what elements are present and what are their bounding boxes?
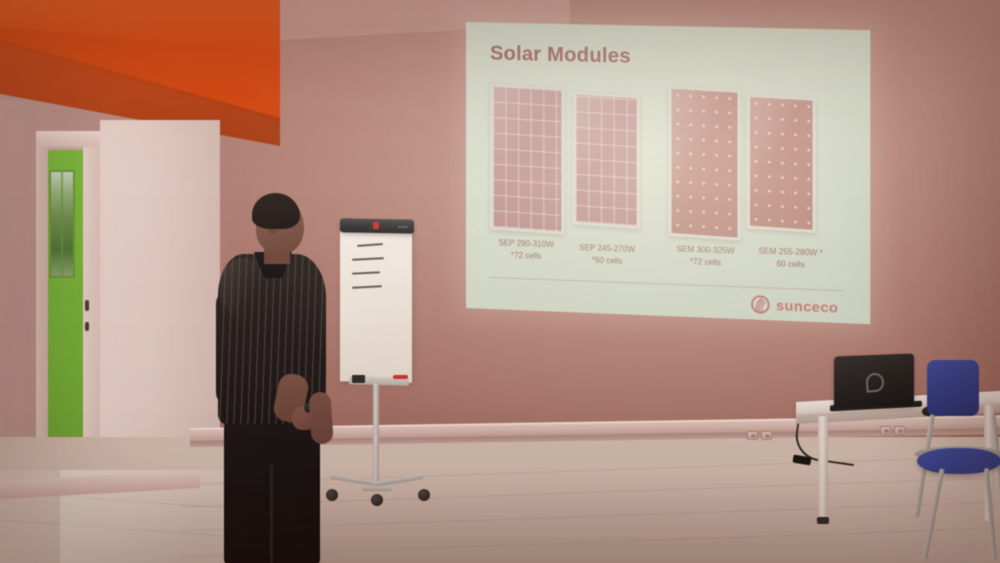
solar-panel-sep-290-310[interactable] — [490, 83, 564, 235]
wall-outlet-icon[interactable] — [880, 426, 891, 435]
sunceco-logo: sunceco — [749, 295, 851, 319]
slide-title: Solar Modules — [490, 43, 631, 69]
panel-caption: SEP 245-270W *60 cells — [560, 241, 654, 268]
panel-sheen — [493, 86, 561, 231]
door-header — [36, 131, 100, 147]
desk-leg — [818, 416, 828, 524]
flipchart-leg — [362, 486, 392, 491]
sunceco-wordmark: sunceco — [776, 297, 838, 316]
presenter-leg-separation — [270, 464, 273, 563]
desk-leg-foot — [817, 517, 829, 524]
flipchart-marker-pen[interactable] — [393, 375, 408, 379]
projected-slide: Solar Modules SEP 290-310W *72 cells SEP… — [466, 22, 870, 324]
flipchart-eraser[interactable] — [352, 375, 365, 383]
flipchart-stand-post — [373, 383, 379, 488]
window-mullion — [61, 172, 63, 276]
flipchart-caster-wheel — [418, 489, 430, 501]
panel-caption-line2: *72 cells — [480, 248, 573, 263]
solar-panel-sep-245-270[interactable] — [573, 91, 640, 229]
panel-caption: SEP 290-310W *72 cells — [480, 236, 573, 262]
door-lock-icon[interactable] — [85, 322, 89, 331]
chair-backrest[interactable] — [927, 360, 979, 416]
room-photo-scene: Solar Modules SEP 290-310W *72 cells SEP… — [0, 0, 1000, 563]
sunceco-swirl-icon — [749, 295, 772, 316]
flipchart-brand-label: nobo — [398, 224, 408, 229]
panel-caption: SEM 255-280W * 60 cells — [740, 245, 842, 272]
slide-divider — [490, 277, 843, 291]
solar-panel-sem-300-325[interactable] — [668, 86, 740, 241]
flipchart-brand-mark-icon — [373, 222, 379, 229]
panel-caption-line2: 60 cells — [740, 256, 842, 271]
presenter-far-forearm — [308, 391, 334, 444]
wall-outlet-icon[interactable] — [747, 431, 758, 440]
wall-outlet-icon[interactable] — [761, 431, 772, 440]
panel-sheen — [576, 95, 637, 226]
door-handle-icon[interactable] — [85, 300, 89, 311]
panel-sheen — [750, 97, 813, 230]
presenter-hair — [252, 193, 300, 229]
flipchart-paper[interactable] — [340, 231, 412, 383]
flipchart-caster-wheel — [371, 494, 383, 506]
panel-sheen — [672, 89, 738, 238]
presenter[interactable] — [214, 196, 334, 563]
panel-caption-line2: *60 cells — [560, 253, 654, 268]
solar-panel-sem-255-280[interactable] — [747, 94, 816, 233]
wall-outlet-icon[interactable] — [894, 426, 905, 435]
